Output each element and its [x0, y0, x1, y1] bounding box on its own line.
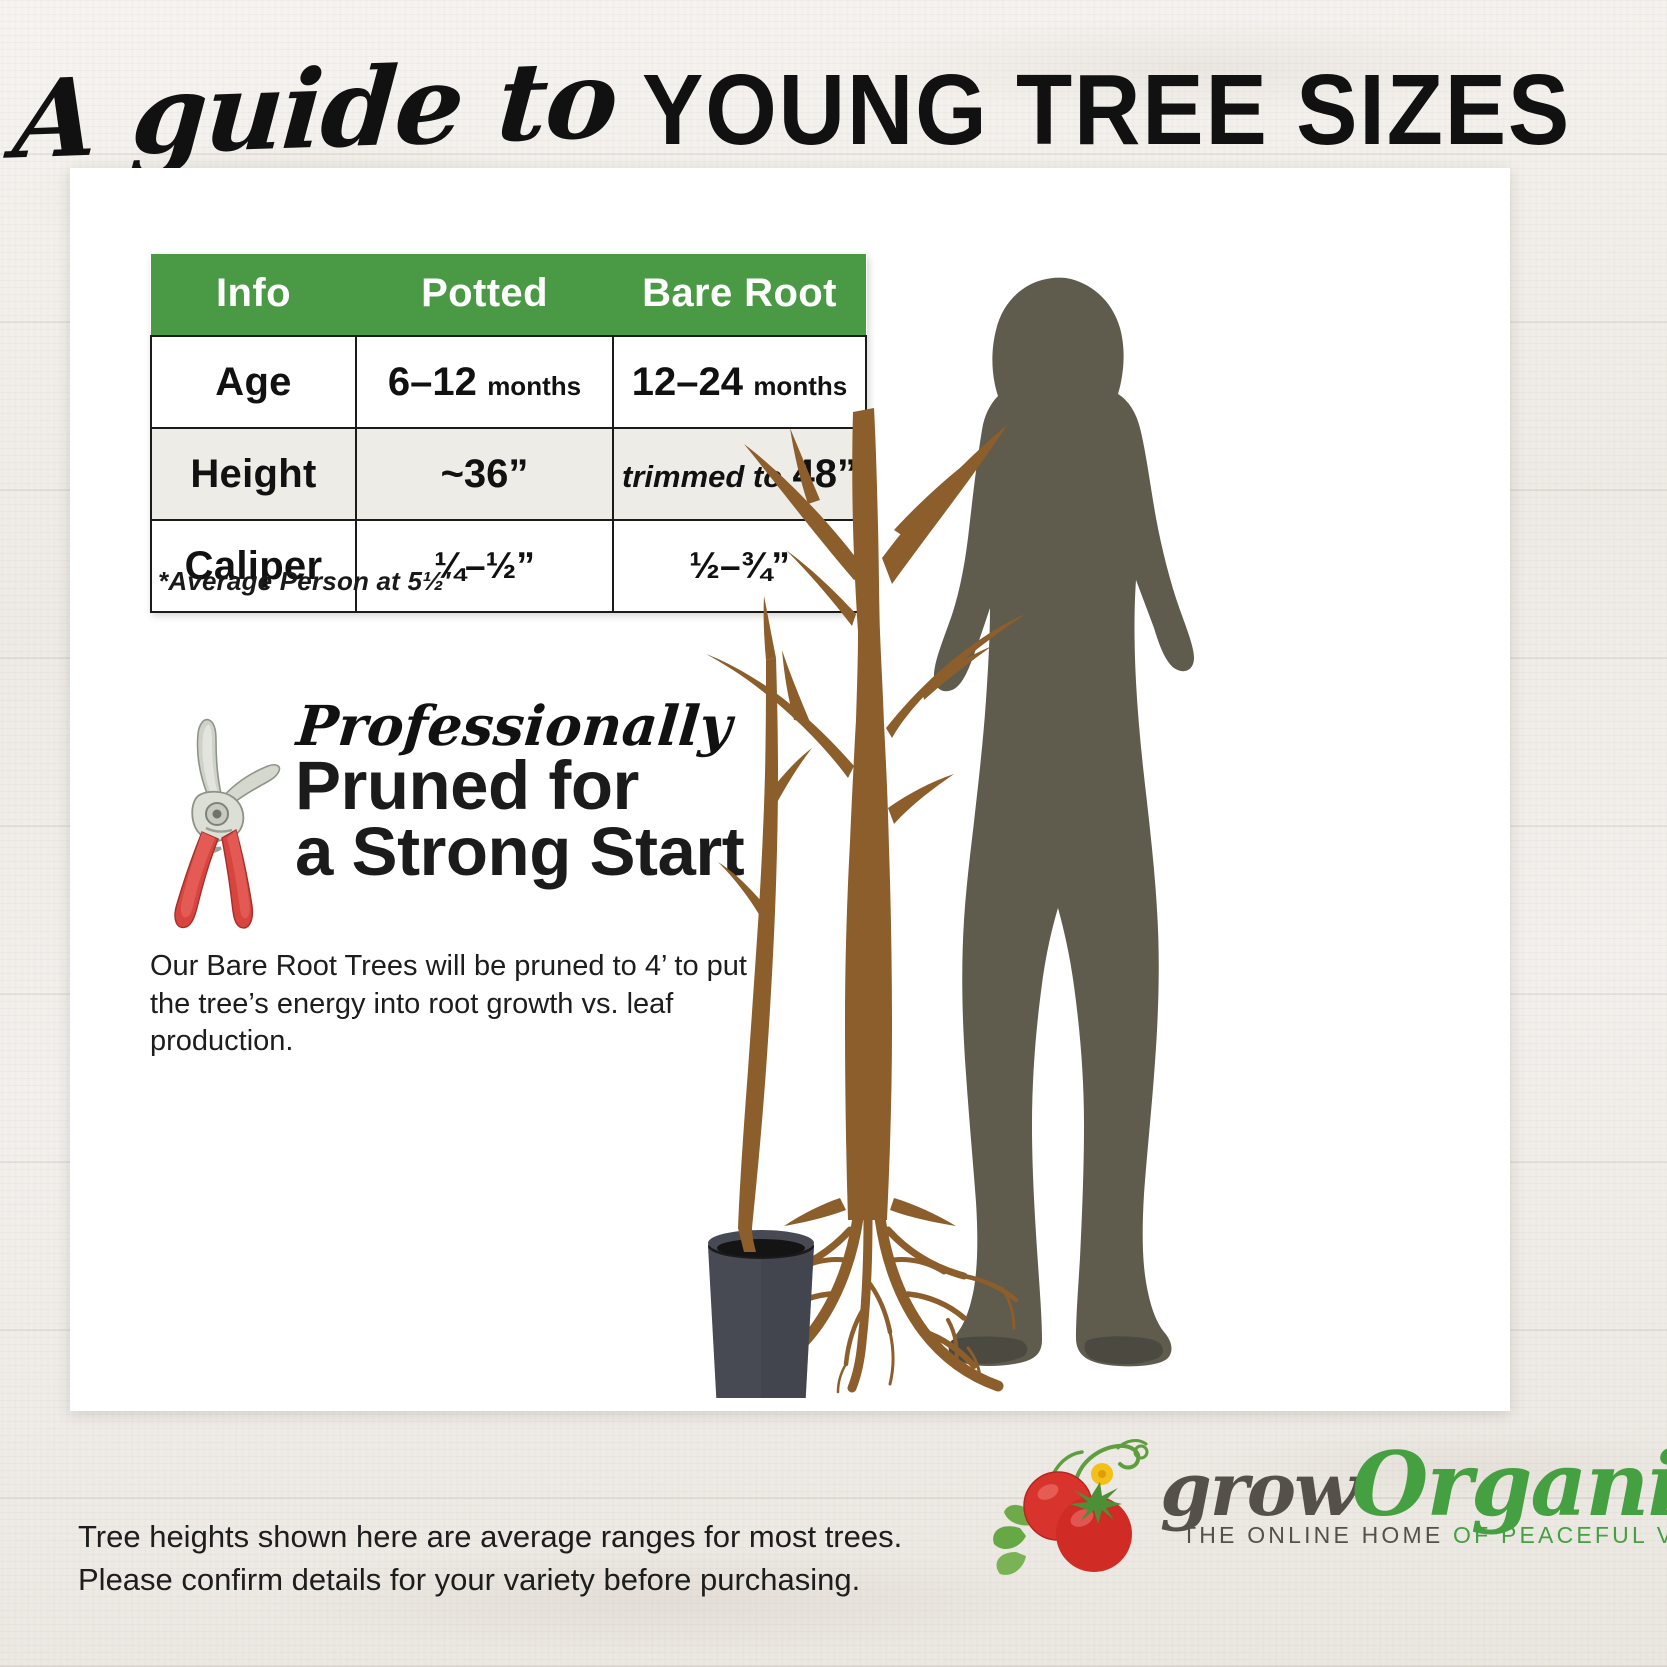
pruned-body-line-1: Our Bare Root Trees will be pruned to 4’…	[150, 948, 750, 986]
page-title-block: YOUNG TREE SIZES	[642, 60, 1571, 160]
page-title-script: A guide to	[11, 45, 621, 174]
footer-disclaimer-line-1: Tree heights shown here are average rang…	[78, 1516, 902, 1559]
table-header-info: Info	[151, 254, 356, 336]
cell-age-potted-range: 6–12	[388, 360, 477, 404]
tree-size-illustration	[690, 208, 1490, 1398]
flower-icon	[1091, 1463, 1113, 1485]
logo-word-organic: Organic	[1352, 1432, 1667, 1536]
grow-organic-logo[interactable]: growOrganic.com THE ONLINE HOME OF PEACE…	[990, 1418, 1580, 1578]
pruning-shears-icon	[150, 704, 300, 934]
table-footnote: *Average Person at 5½′	[158, 566, 450, 597]
person-silhouette	[934, 278, 1194, 1367]
row-label-height: Height	[151, 428, 356, 520]
logo-wordmark: growOrganic.com	[1160, 1440, 1667, 1528]
pruned-body-text: Our Bare Root Trees will be pruned to 4’…	[150, 948, 750, 1061]
cell-age-potted-unit: months	[487, 371, 581, 401]
row-label-age: Age	[151, 336, 356, 428]
logo-tagline-part-2: OF PEACEFUL VALLEY	[1453, 1522, 1667, 1548]
table-header-potted: Potted	[356, 254, 613, 336]
logo-tagline-part-1: THE ONLINE HOME	[1182, 1522, 1443, 1548]
tomato-vine-icon	[990, 1430, 1180, 1580]
footer-disclaimer-line-2: Please confirm details for your variety …	[78, 1559, 902, 1602]
page-title: A guide toYOUNG TREE SIZES	[0, 52, 1667, 167]
cell-height-potted: ~36”	[356, 428, 613, 520]
footer-disclaimer: Tree heights shown here are average rang…	[78, 1516, 902, 1602]
pruned-script-line: Professionally	[295, 698, 734, 753]
logo-word-grow: grow	[1160, 1447, 1356, 1533]
pruned-body-line-2: the tree’s energy into root growth vs. l…	[150, 986, 750, 1061]
logo-tagline: THE ONLINE HOME OF PEACEFUL VALLEY	[1182, 1522, 1667, 1549]
cell-height-potted-value: ~36”	[441, 452, 529, 496]
content-card: Info Potted Bare Root Age 6–12 months 12…	[70, 168, 1510, 1411]
cell-age-potted: 6–12 months	[356, 336, 613, 428]
